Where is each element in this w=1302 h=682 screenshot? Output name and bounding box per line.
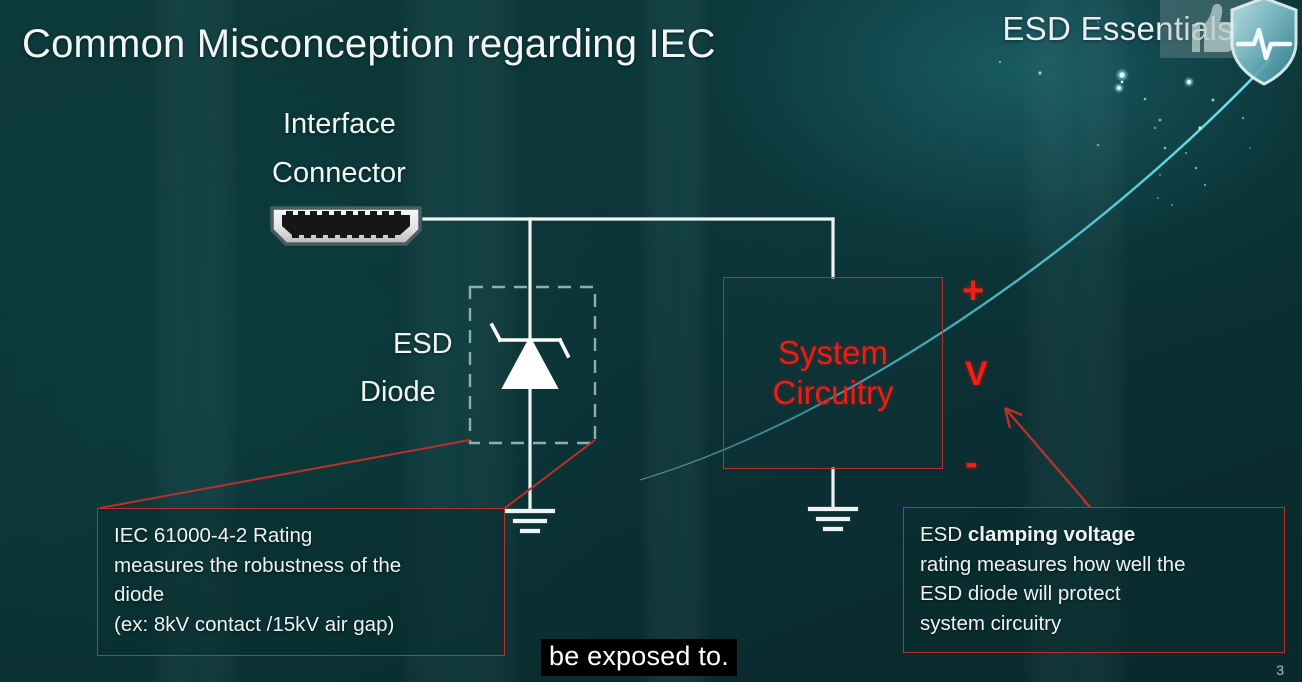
polarity-voltage-marker: V bbox=[965, 355, 988, 394]
callout-clamping-voltage: ESD clamping voltage rating measures how… bbox=[903, 507, 1285, 653]
slide-title: Common Misconception regarding IEC bbox=[22, 22, 716, 67]
callout-left-line1: IEC 61000-4-2 Rating bbox=[114, 521, 490, 551]
callout-iec-rating: IEC 61000-4-2 Rating measures the robust… bbox=[97, 508, 505, 656]
system-circuitry-line1: System bbox=[778, 333, 888, 373]
polarity-minus-marker: - bbox=[965, 442, 978, 485]
polarity-plus-marker: + bbox=[962, 270, 984, 313]
system-circuitry-box: System Circuitry bbox=[723, 277, 943, 469]
callout-right-prefix: ESD bbox=[920, 523, 968, 546]
system-circuitry-line2: Circuitry bbox=[773, 373, 894, 413]
system-circuitry-text: System Circuitry bbox=[724, 278, 942, 468]
hdmi-connector-icon bbox=[266, 202, 426, 250]
video-caption: be exposed to. bbox=[541, 639, 737, 676]
callout-right-emphasis: clamping voltage bbox=[968, 523, 1135, 546]
interface-connector-label-line2: Connector bbox=[272, 157, 406, 190]
callout-right-line4: system circuitry bbox=[920, 609, 1270, 639]
page-number: 3 bbox=[1276, 662, 1284, 678]
esd-diode-label-line2: Diode bbox=[360, 376, 436, 409]
callout-right-line3: ESD diode will protect bbox=[920, 579, 1270, 609]
interface-connector-label-line1: Interface bbox=[283, 108, 396, 141]
callout-left-line4: (ex: 8kV contact /15kV air gap) bbox=[114, 610, 490, 640]
callout-left-line2: measures the robustness of the bbox=[114, 551, 490, 581]
esd-diode-label-line1: ESD bbox=[393, 328, 453, 361]
callout-right-line2: rating measures how well the bbox=[920, 550, 1270, 580]
callout-right-line1: ESD clamping voltage bbox=[920, 520, 1270, 550]
callout-left-line3: diode bbox=[114, 580, 490, 610]
shield-heartbeat-logo bbox=[1228, 0, 1300, 88]
slide-canvas: Common Misconception regarding IEC ESD E… bbox=[0, 0, 1302, 682]
